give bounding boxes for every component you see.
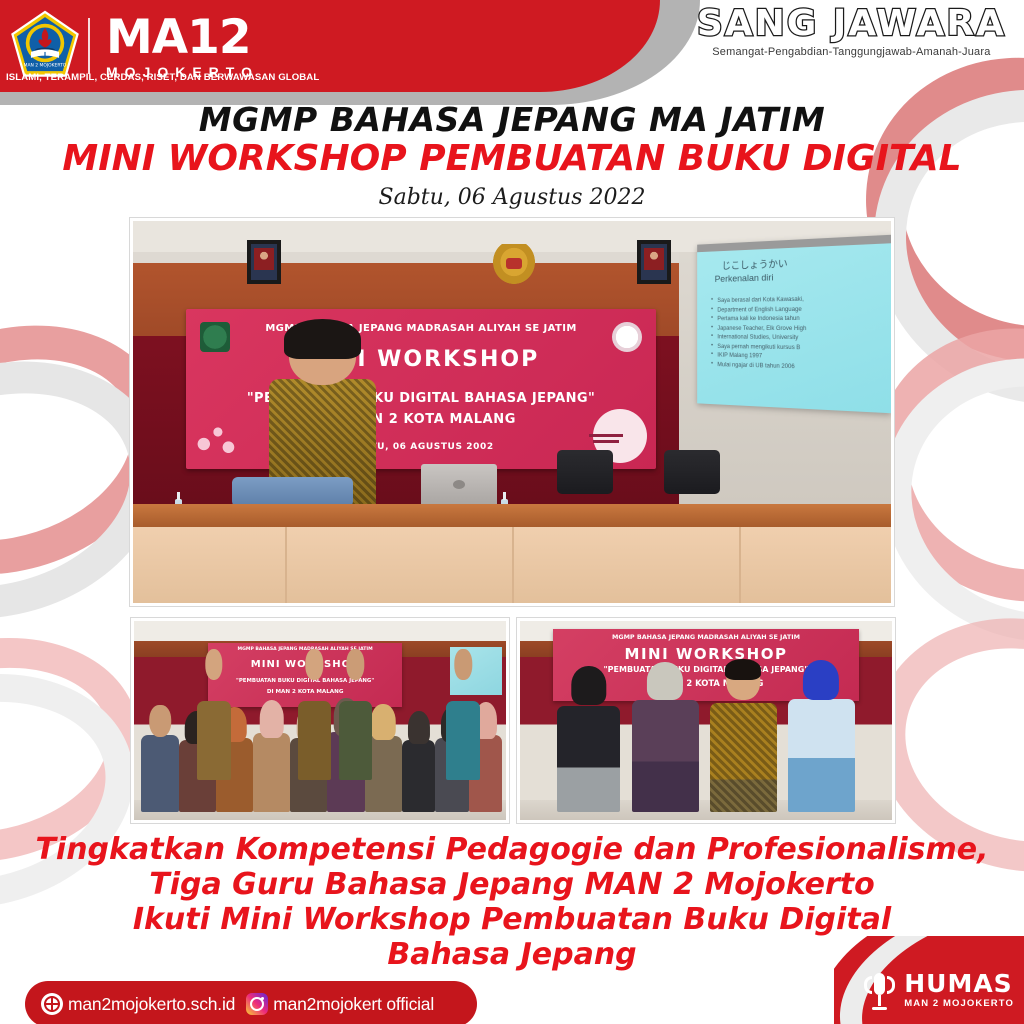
banner-line-2: MINI WORKSHOP [186, 347, 656, 372]
president-portrait-right [637, 240, 671, 284]
caption-line-1: Tingkatkan Kompetensi Pedagogie dan Prof… [0, 832, 1024, 867]
poster-canvas: MAN 2 MOJOKERTO MA12 MOJOKERTO ISLAMI, T… [0, 0, 1024, 1024]
humas-logo: HUMAS MAN 2 MOJOKERTO [834, 936, 1024, 1024]
presenter-hair [284, 319, 360, 359]
sang-jawara-subtitle: Semangat-Pengabdian-Tanggungjawab-Amanah… [697, 46, 1006, 58]
poster-title-block: MGMP BAHASA JEPANG MA JATIM MINI WORKSHO… [0, 103, 1024, 210]
wall-trim [133, 252, 679, 263]
main-photo-scene: MGMP BAHASA JEPANG MADRASAH ALIYAH SE JA… [133, 221, 891, 603]
title-line-2: MINI WORKSHOP PEMBUATAN BUKU DIGITAL [0, 140, 1024, 179]
sang-jawara-title: SANG JAWARA [697, 6, 1006, 42]
title-line-1: MGMP BAHASA JEPANG MA JATIM [0, 103, 1024, 138]
instagram-link[interactable]: man2mojokert official [246, 993, 434, 1015]
presentation-table [133, 504, 891, 527]
event-banner: MGMP BAHASA JEPANG MADRASAH ALIYAH SE JA… [186, 309, 656, 469]
slide-bullet-list: Saya berasal dari Kota Kawasaki, Departm… [711, 294, 887, 374]
slide-heading-id: Perkenalan diri [715, 272, 774, 284]
participant [253, 703, 290, 812]
participant [141, 705, 178, 812]
caption-line-3: Ikuti Mini Workshop Pembuatan Buku Digit… [0, 902, 1024, 937]
laptop [421, 464, 497, 506]
humas-subtitle: MAN 2 MOJOKERTO [904, 999, 1014, 1009]
panel-seam [285, 527, 287, 603]
participant [710, 661, 777, 812]
instagram-label: man2mojokert official [273, 994, 434, 1015]
school-code-label: MA12 [106, 14, 259, 61]
banner-line-1: MGMP BAHASA JEPANG MADRASAH ALIYAH SE JA… [553, 633, 858, 641]
president-portrait-left [247, 240, 281, 284]
website-link[interactable]: man2mojokerto.sch.id [41, 993, 235, 1015]
main-photo: MGMP BAHASA JEPANG MADRASAH ALIYAH SE JA… [130, 218, 894, 606]
globe-icon [41, 993, 63, 1015]
projection-screen: じこしょうかい Perkenalan diri Saya berasal dar… [697, 235, 891, 414]
participant-back-row [446, 649, 479, 780]
panel-seam [512, 527, 514, 603]
participant [402, 713, 435, 813]
humas-logo-content: HUMAS MAN 2 MOJOKERTO [863, 970, 1014, 1010]
garuda-emblem-icon [493, 244, 535, 284]
school-motto: ISLAMI, TERAMPIL, CERDAS, RISET, DAN BER… [6, 72, 319, 83]
participant [557, 669, 620, 812]
footer-contact-bar: man2mojokerto.sch.id man2mojokert offici… [25, 981, 477, 1024]
office-chair [557, 450, 613, 494]
svg-text:MAN 2 MOJOKERTO: MAN 2 MOJOKERTO [24, 63, 67, 69]
participant-back-row [197, 649, 230, 780]
microphone-headphones-icon [863, 970, 896, 1010]
instagram-icon [246, 993, 268, 1015]
humas-title: HUMAS [904, 971, 1014, 996]
group-photo-right: MGMP BAHASA JEPANG MADRASAH ALIYAH SE JA… [517, 618, 895, 823]
group-photo-right-scene: MGMP BAHASA JEPANG MADRASAH ALIYAH SE JA… [520, 621, 892, 820]
caption-line-2: Tiga Guru Bahasa Jepang MAN 2 Mojokerto [0, 867, 1024, 902]
office-chair [664, 450, 720, 494]
event-date: Sabtu, 06 Agustus 2022 [0, 185, 1024, 210]
banner-line-2: MINI WORKSHOP [553, 645, 858, 663]
brand-text: MA12 MOJOKERTO [106, 14, 259, 79]
group-photo-left: MGMP BAHASA JEPANG MADRASAH ALIYAH SE JA… [131, 618, 509, 823]
group-photo-left-scene: MGMP BAHASA JEPANG MADRASAH ALIYAH SE JA… [134, 621, 506, 820]
slide-bullet: Pertama kali ke Indonesia tahun [711, 314, 887, 324]
panel-seam [739, 527, 741, 603]
website-label: man2mojokerto.sch.id [68, 994, 235, 1015]
banner-line-1: MGMP BAHASA JEPANG MADRASAH ALIYAH SE JA… [186, 323, 656, 334]
participant-back-row [339, 649, 372, 780]
banner-line-3: "PEMBUATAN BUKU DIGITAL BAHASA JEPANG" [186, 391, 656, 406]
participant [632, 665, 699, 812]
participant-back-row [298, 649, 331, 780]
sang-jawara-logo: SANG JAWARA Semangat-Pengabdian-Tanggung… [697, 6, 1006, 58]
slide-heading-jp: じこしょうかい [722, 255, 788, 272]
brand-divider [88, 18, 90, 74]
participant [788, 663, 855, 812]
banner-line-4: DI MAN 2 KOTA MALANG [186, 412, 656, 427]
humas-text: HUMAS MAN 2 MOJOKERTO [904, 971, 1014, 1009]
